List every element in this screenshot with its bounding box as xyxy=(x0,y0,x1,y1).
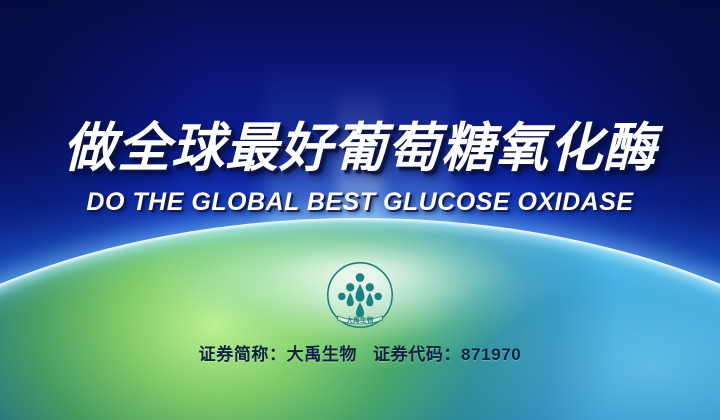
company-logo: 大禹生物 xyxy=(325,260,395,330)
stock-info-bar: 证券简称：大禹生物证券代码：871970 xyxy=(0,340,720,365)
banner-slide: 做全球最好葡萄糖氧化酶 DO THE GLOBAL BEST GLUCOSE O… xyxy=(0,0,720,420)
logo-wordmark: 大禹生物 xyxy=(346,318,374,325)
stock-code: 证券代码：871970 xyxy=(373,345,521,364)
page-title: 做全球最好葡萄糖氧化酶 xyxy=(0,122,720,175)
page-subtitle: DO THE GLOBAL BEST GLUCOSE OXIDASE xyxy=(0,188,720,217)
stock-name: 证券简称：大禹生物 xyxy=(199,345,357,364)
